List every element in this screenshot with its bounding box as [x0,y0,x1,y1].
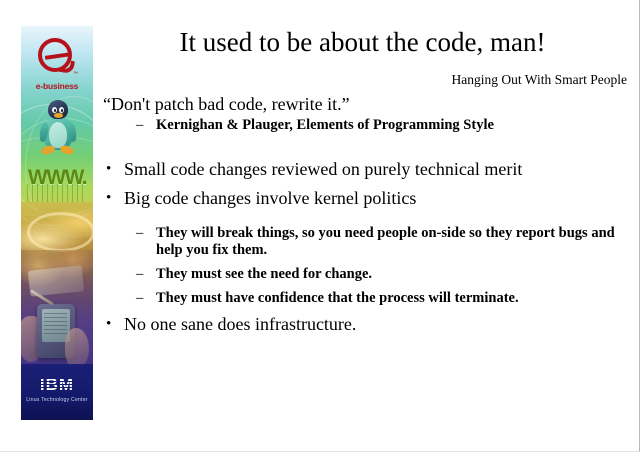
handheld-device-photo-band [21,250,93,380]
sub-bullet-1-2: – They must have confidence that the pro… [98,290,633,307]
ibm-ebusiness-banner-image: ™ e-business WWW. [21,26,93,420]
tux-foot-left [40,144,56,156]
e-business-label: e-business [21,81,93,91]
tux-pupil-right [61,109,63,112]
dash-marker: – [136,225,143,242]
tux-foot-right [59,144,75,156]
sub-bullet-text: They will break things, so you need peop… [156,225,615,258]
dash-marker: – [136,266,143,283]
bullet-text: Big code changes involve kernel politics [124,188,416,208]
bullet-marker: • [106,188,111,209]
ibm-logo: IBM [31,376,83,394]
ibm-logo-caption: Linux Technology Center [21,397,93,403]
tux-pupil-left [54,109,56,112]
quote-attribution-line: – Kernighan & Plauger, Elements of Progr… [98,117,633,134]
slide-title: It used to be about the code, man! [100,26,625,58]
slide-body: “Don't patch bad code, rewrite it.” – Ke… [98,94,633,337]
quote-attribution-text: Kernighan & Plauger, Elements of Program… [156,117,494,133]
ibm-logo-block: IBM Linux Technology Center [21,364,93,420]
trademark-symbol: ™ [73,71,78,77]
sub-bullet-1-0: – They will break things, so you need pe… [98,225,633,259]
tux-penguin-icon [41,100,75,158]
spacer [98,211,633,225]
quote-line: “Don't patch bad code, rewrite it.” [98,94,633,115]
dash-marker: – [136,290,143,307]
tux-belly [49,122,67,148]
spacer [98,135,633,159]
bullet-marker: • [106,159,111,180]
tux-beak [54,113,63,118]
bullet-text: No one sane does infrastructure. [124,314,356,334]
bullet-item-1: • Big code changes involve kernel politi… [98,188,633,209]
slide-canvas: ™ e-business WWW. [0,0,640,452]
bullet-item-0: • Small code changes reviewed on purely … [98,159,633,180]
ibm-e-business-e-icon: ™ [38,38,76,76]
bullet-marker: • [106,314,111,335]
hand-shape-right [65,328,89,368]
slide-subtitle: Hanging Out With Smart People [100,72,627,88]
sub-bullet-1-1: – They must see the need for change. [98,266,633,283]
sub-bullet-text: They must see the need for change. [156,266,372,282]
book-page-arc [27,212,93,252]
bullet-text: Small code changes reviewed on purely te… [124,159,522,179]
pda-screen-text-lines [44,313,67,337]
dash-marker: – [136,117,143,134]
www-streak-texture [27,184,87,202]
bullet-item-2: • No one sane does infrastructure. [98,314,633,335]
sub-bullet-text: They must have confidence that the proce… [156,290,519,306]
